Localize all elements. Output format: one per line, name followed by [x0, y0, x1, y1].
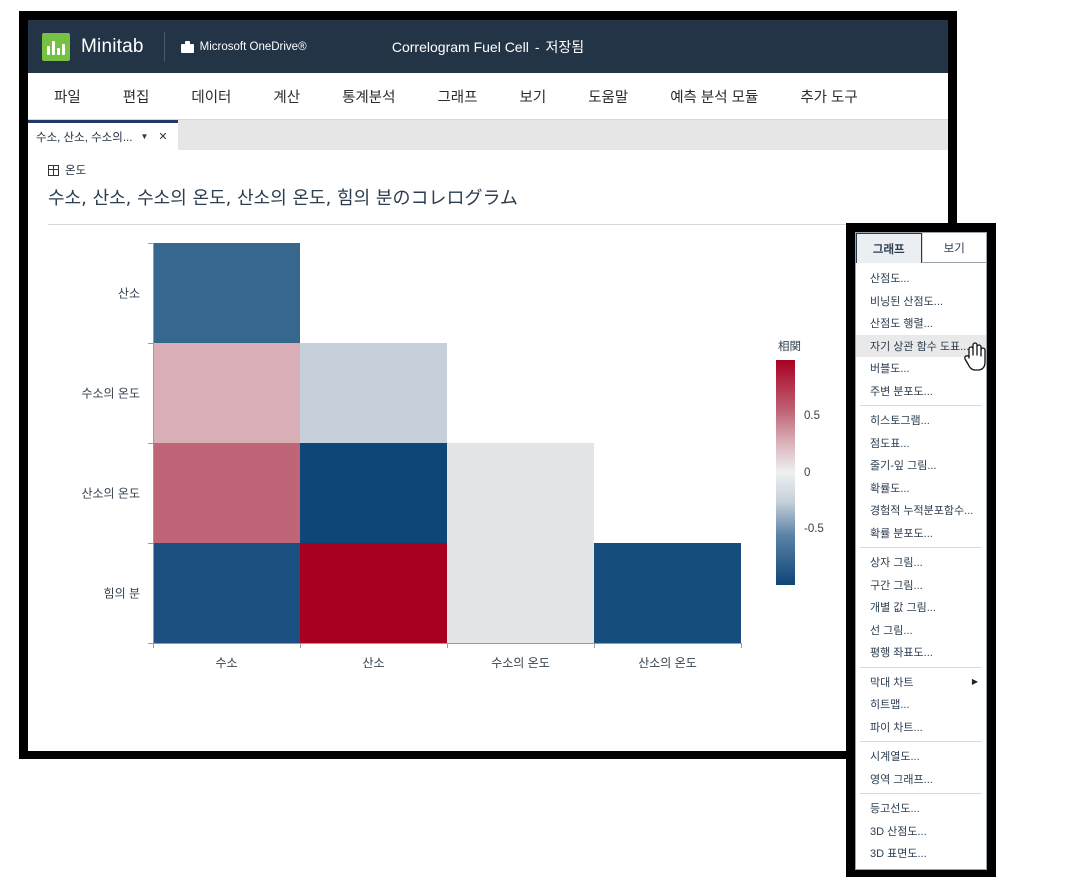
- menu-item-edit[interactable]: 편집: [102, 86, 171, 107]
- close-icon[interactable]: ✕: [158, 130, 167, 143]
- tab-graph-document[interactable]: 수소, 산소, 수소의... ▼ ✕: [28, 120, 178, 150]
- onedrive-status[interactable]: Microsoft OneDrive®: [181, 41, 307, 53]
- title-divider: [48, 224, 928, 225]
- menu-item-선 그림[interactable]: 선 그림...: [856, 619, 986, 642]
- menu-item-주변 분포도[interactable]: 주변 분포도...: [856, 380, 986, 403]
- menu-item-산점도[interactable]: 산점도...: [856, 267, 986, 290]
- y-tick: [148, 343, 153, 344]
- heatmap-cell[interactable]: [447, 443, 594, 543]
- x-tick: [153, 643, 154, 648]
- correlogram-plot: 산소수소의 온도산소의 온도힘의 분 수소산소수소의 온도산소의 온도 相関 0…: [28, 233, 948, 733]
- page-title: 수소, 산소, 수소의 온도, 산소의 온도, 힘의 분のコレログラム: [28, 178, 948, 210]
- x-tick: [300, 643, 301, 648]
- menu-item-label: 구간 그림...: [870, 577, 923, 593]
- menu-item-줄기-잎 그림[interactable]: 줄기-잎 그림...: [856, 454, 986, 477]
- tab-view[interactable]: 보기: [922, 233, 987, 263]
- x-axis-label: 수소: [215, 654, 237, 671]
- menu-item-3D 표면도[interactable]: 3D 표면도...: [856, 842, 986, 865]
- menu-item-label: 산점도...: [870, 270, 910, 286]
- menu-item-graph[interactable]: 그래프: [416, 86, 498, 107]
- menu-item-등고선도[interactable]: 등고선도...: [856, 797, 986, 820]
- menu-item-확률도[interactable]: 확률도...: [856, 477, 986, 500]
- menu-item-점도표[interactable]: 점도표...: [856, 432, 986, 455]
- content-area: 온도 수소, 산소, 수소의 온도, 산소의 온도, 힘의 분のコレログラム 산…: [28, 150, 948, 751]
- y-tick: [148, 543, 153, 544]
- worksheet-indicator: 온도: [28, 150, 948, 178]
- menu-item-data[interactable]: 데이터: [170, 86, 252, 107]
- y-axis-label: 수소의 온도: [81, 385, 140, 402]
- document-title: Correlogram Fuel Cell-저장됨: [392, 37, 584, 57]
- x-tick: [447, 643, 448, 648]
- legend-tick: 0.5: [804, 410, 820, 422]
- onedrive-icon: [181, 41, 194, 53]
- menu-item-히스토그램[interactable]: 히스토그램...: [856, 409, 986, 432]
- menu-item-help[interactable]: 도움말: [567, 86, 649, 107]
- menu-item-label: 확률 분포도...: [870, 525, 933, 541]
- title-dash: -: [535, 39, 540, 55]
- menu-item-label: 자기 상관 함수 도표...: [870, 338, 969, 354]
- menu-item-label: 개별 값 그림...: [870, 599, 936, 615]
- menu-separator: [860, 793, 982, 794]
- menu-item-label: 3D 산점도...: [870, 823, 927, 839]
- x-axis-label: 산소: [362, 654, 384, 671]
- brand-name: Minitab: [81, 36, 144, 58]
- minitab-window: Minitab Microsoft OneDrive® Correlogram …: [28, 20, 948, 750]
- y-axis-labels: 산소수소의 온도산소의 온도힘의 분: [28, 233, 140, 653]
- heatmap-cell[interactable]: [153, 543, 300, 643]
- menu-item-label: 점도표...: [870, 435, 910, 451]
- y-axis-label: 힘의 분: [104, 585, 140, 602]
- menu-item-3D 산점도[interactable]: 3D 산점도...: [856, 820, 986, 843]
- menu-tab-bar: 그래프 보기: [856, 233, 986, 263]
- menu-item-label: 선 그림...: [870, 622, 913, 638]
- menu-item-label: 경험적 누적분포함수...: [870, 502, 973, 518]
- heatmap-cell[interactable]: [300, 443, 447, 543]
- menu-item-calc[interactable]: 계산: [252, 86, 321, 107]
- color-legend: 相関 0.50-0.5: [776, 338, 801, 585]
- menu-item-label: 평행 좌표도...: [870, 644, 933, 660]
- menu-item-label: 등고선도...: [870, 800, 920, 816]
- legend-gradient-bar: [776, 360, 795, 585]
- hand-cursor-icon: [962, 341, 988, 371]
- y-tick: [148, 643, 153, 644]
- brand: Minitab: [28, 33, 144, 61]
- menu-item-label: 줄기-잎 그림...: [870, 457, 937, 473]
- menu-item-additional-tools[interactable]: 추가 도구: [779, 86, 878, 107]
- y-axis-label: 산소의 온도: [81, 485, 140, 502]
- title-bar: Minitab Microsoft OneDrive® Correlogram …: [28, 20, 948, 73]
- menu-item-stat[interactable]: 통계분석: [321, 86, 416, 107]
- menu-item-label: 산점도 행렬...: [870, 315, 933, 331]
- x-axis-label: 수소의 온도: [491, 654, 550, 671]
- chevron-down-icon[interactable]: ▼: [140, 132, 148, 141]
- y-tick: [148, 243, 153, 244]
- menu-item-평행 좌표도[interactable]: 평행 좌표도...: [856, 641, 986, 664]
- menu-item-시계열도[interactable]: 시계열도...: [856, 745, 986, 768]
- onedrive-label: Microsoft OneDrive®: [200, 41, 307, 53]
- graph-menu-panel: 그래프 보기 산점도...비닝된 산점도...산점도 행렬...자기 상관 함수…: [855, 232, 987, 870]
- x-tick: [594, 643, 595, 648]
- menu-item-산점도 행렬[interactable]: 산점도 행렬...: [856, 312, 986, 335]
- menu-item-개별 값 그림[interactable]: 개별 값 그림...: [856, 596, 986, 619]
- menu-item-label: 막대 차트: [870, 674, 914, 690]
- menu-item-히트맵[interactable]: 히트맵...: [856, 693, 986, 716]
- menu-item-label: 버블도...: [870, 360, 910, 376]
- menu-separator: [860, 741, 982, 742]
- submenu-arrow-icon: ▶: [972, 677, 978, 686]
- worksheet-name: 온도: [65, 162, 86, 178]
- minitab-logo-icon: [42, 33, 70, 61]
- saved-status: 저장됨: [545, 39, 584, 55]
- x-tick: [741, 643, 742, 648]
- y-tick: [148, 443, 153, 444]
- x-axis-label: 산소의 온도: [638, 654, 697, 671]
- tab-strip: 수소, 산소, 수소의... ▼ ✕: [28, 120, 948, 150]
- menu-bar: 파일 편집 데이터 계산 통계분석 그래프 보기 도움말 예측 분석 모듈 추가…: [28, 73, 948, 120]
- menu-item-file[interactable]: 파일: [28, 86, 102, 107]
- menu-item-막대 차트[interactable]: 막대 차트▶: [856, 671, 986, 694]
- heatmap-cell[interactable]: [447, 543, 594, 643]
- menu-item-label: 히스토그램...: [870, 412, 930, 428]
- menu-item-label: 시계열도...: [870, 748, 920, 764]
- heatmap-cell[interactable]: [153, 443, 300, 543]
- menu-separator: [860, 405, 982, 406]
- menu-item-label: 주변 분포도...: [870, 383, 933, 399]
- menu-item-확률 분포도[interactable]: 확률 분포도...: [856, 522, 986, 545]
- menu-item-label: 3D 표면도...: [870, 845, 927, 861]
- menu-item-파이 차트[interactable]: 파이 차트...: [856, 716, 986, 739]
- menu-item-경험적 누적분포함수[interactable]: 경험적 누적분포함수...: [856, 499, 986, 522]
- menu-separator: [860, 547, 982, 548]
- legend-tick: -0.5: [804, 523, 824, 535]
- divider: [164, 32, 165, 62]
- menu-item-view[interactable]: 보기: [499, 86, 568, 107]
- menu-item-영역 그래프[interactable]: 영역 그래프...: [856, 768, 986, 791]
- menu-item-구간 그림[interactable]: 구간 그림...: [856, 574, 986, 597]
- heatmap-cell[interactable]: [300, 343, 447, 443]
- y-axis-label: 산소: [118, 285, 140, 302]
- menu-item-label: 파이 차트...: [870, 719, 923, 735]
- legend-tick: 0: [804, 467, 810, 479]
- worksheet-grid-icon: [48, 165, 59, 176]
- menu-item-상자 그림[interactable]: 상자 그림...: [856, 551, 986, 574]
- menu-item-label: 확률도...: [870, 480, 910, 496]
- heatmap-cells: [153, 243, 741, 643]
- menu-item-비닝된 산점도[interactable]: 비닝된 산점도...: [856, 290, 986, 313]
- document-name: Correlogram Fuel Cell: [392, 39, 529, 55]
- menu-item-label: 비닝된 산점도...: [870, 293, 943, 309]
- y-axis-line: [153, 243, 154, 643]
- menu-item-label: 상자 그림...: [870, 554, 923, 570]
- menu-item-predictive-analytics[interactable]: 예측 분석 모듈: [649, 86, 779, 107]
- menu-item-label: 히트맵...: [870, 696, 910, 712]
- menu-separator: [860, 667, 982, 668]
- heatmap-cell[interactable]: [300, 543, 447, 643]
- menu-item-label: 영역 그래프...: [870, 771, 933, 787]
- heatmap-cell[interactable]: [153, 243, 300, 343]
- legend-title: 相関: [778, 338, 801, 354]
- tab-graph[interactable]: 그래프: [856, 233, 922, 263]
- heatmap-cell[interactable]: [594, 543, 741, 643]
- tab-label: 수소, 산소, 수소의...: [36, 129, 132, 145]
- heatmap-cell[interactable]: [153, 343, 300, 443]
